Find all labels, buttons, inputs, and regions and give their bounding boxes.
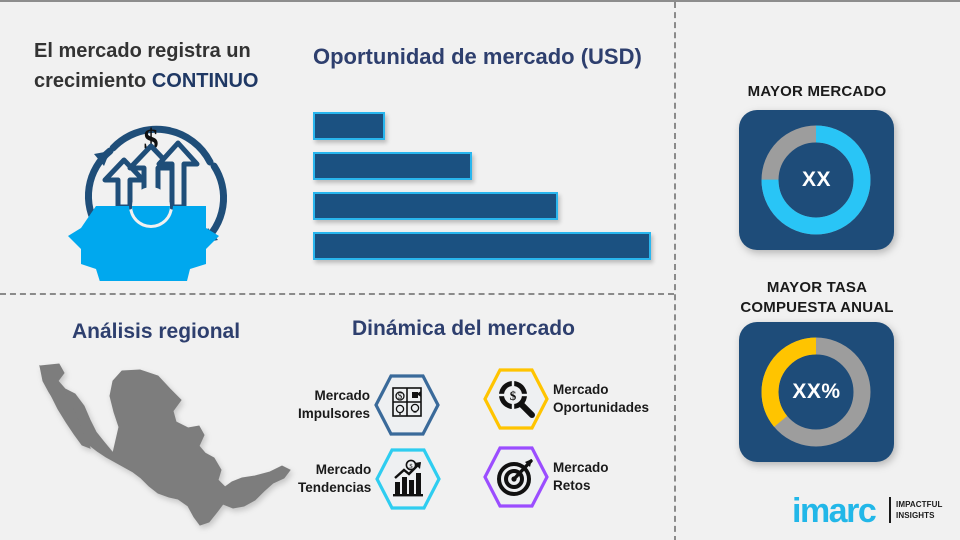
bar-3 <box>313 192 558 220</box>
regional-heading: Análisis regional <box>72 320 302 344</box>
opportunity-heading: Oportunidad de mercado (USD) <box>313 44 663 70</box>
cagr-panel-title: MAYOR TASA COMPUESTA ANUAL <box>692 278 942 318</box>
dynamics-item-opportunities[interactable]: $ Mercado Oportunidades <box>483 368 649 430</box>
target-dart-icon <box>483 446 549 508</box>
dynamics-heading: Dinámica del mercado <box>352 317 632 341</box>
logo-divider <box>889 497 891 523</box>
svg-text:$: $ <box>510 388 517 403</box>
puzzle-pieces-icon: $ <box>374 374 440 436</box>
growth-heading: El mercado registra un crecimiento CONTI… <box>34 36 304 96</box>
horizontal-divider <box>0 293 674 295</box>
growth-heading-accent: CONTINUO <box>152 70 259 92</box>
opportunity-bar-chart <box>313 112 658 267</box>
dynamics-item-trends-label: Mercado Tendencias <box>298 461 371 497</box>
magnifier-dollar-icon: $ <box>483 368 549 430</box>
mexico-map <box>18 354 303 534</box>
logo-tagline: IMPACTFUL INSIGHTS <box>896 499 943 521</box>
growth-heading-line2: crecimiento <box>34 70 152 92</box>
imarc-logo: imarc IMPACTFUL INSIGHTS <box>792 494 942 534</box>
dynamics-item-challenges-label: Mercado Retos <box>553 459 609 495</box>
dynamics-item-challenges[interactable]: Mercado Retos <box>483 446 609 508</box>
bar-1 <box>313 112 385 140</box>
bar-2 <box>313 152 472 180</box>
market-panel-title: MAYOR MERCADO <box>692 82 942 102</box>
infographic-page: El mercado registra un crecimiento CONTI… <box>0 0 960 540</box>
bar-chart-growth-icon: $ <box>375 448 441 510</box>
dynamics-item-trends[interactable]: Mercado Tendencias $ <box>298 448 441 510</box>
dynamics-item-opportunities-label: Mercado Oportunidades <box>553 381 649 417</box>
bar-4 <box>313 232 651 260</box>
cagr-donut-value: XX% <box>739 380 894 404</box>
logo-wordmark: imarc <box>792 494 875 528</box>
dynamics-item-drivers-label: Mercado Impulsores <box>298 387 370 423</box>
cagr-donut-card: XX% <box>739 322 894 462</box>
market-donut-card: XX <box>739 110 894 250</box>
vertical-divider <box>674 2 676 540</box>
growth-heading-line1: El mercado registra un <box>34 40 251 62</box>
market-donut-value: XX <box>739 168 894 192</box>
dynamics-item-drivers[interactable]: Mercado Impulsores $ <box>298 374 440 436</box>
gear-growth-arrows-icon: $ <box>58 106 248 281</box>
